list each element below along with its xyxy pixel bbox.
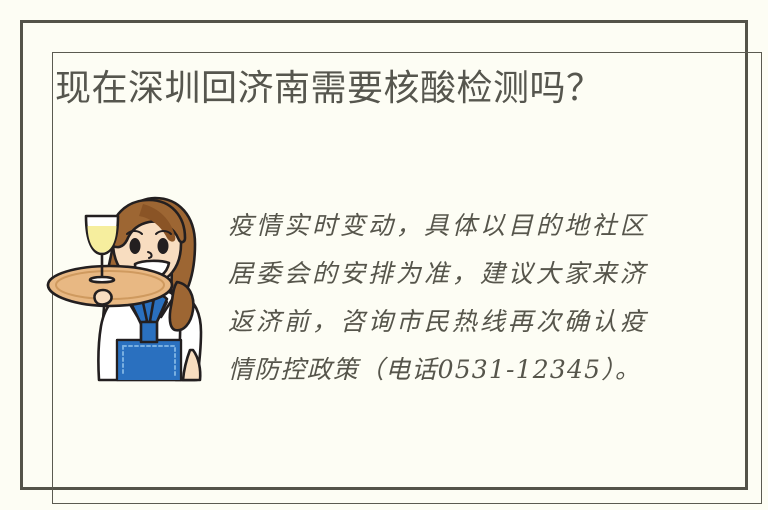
wine-glass-base [90, 277, 114, 282]
waitress-with-tray-illustration [43, 190, 233, 390]
page-root: 现在深圳回济南需要核酸检测吗？ [0, 0, 768, 510]
ponytail [170, 282, 194, 330]
apron-bib [141, 322, 157, 342]
article-body-text: 疫情实时变动，具体以目的地社区居委会的安排为准，建议大家来济返济前，咨询市民热线… [228, 202, 646, 394]
left-eye [130, 238, 141, 254]
right-eye [158, 238, 169, 254]
left-hand [94, 290, 111, 305]
page-title: 现在深圳回济南需要核酸检测吗？ [55, 62, 675, 114]
waitress-svg [43, 190, 233, 390]
